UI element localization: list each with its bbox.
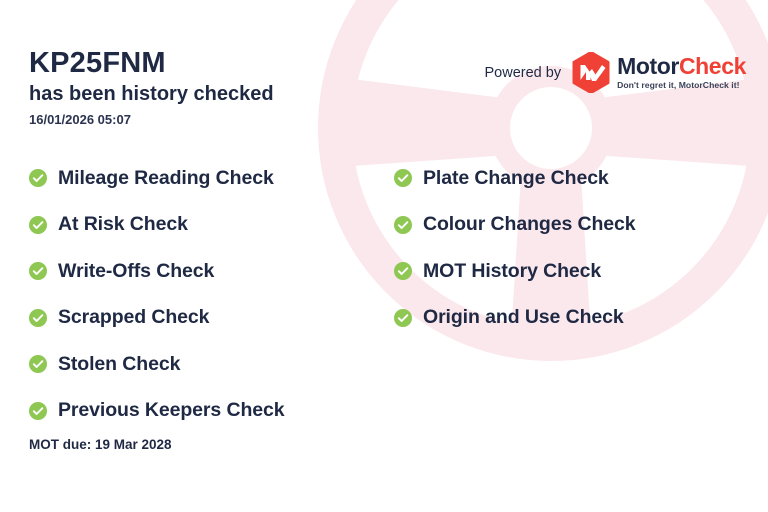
check-circle-icon xyxy=(29,402,47,420)
page-title-plate: KP25FNM xyxy=(29,48,274,79)
check-item-previous-keepers: Previous Keepers Check xyxy=(29,388,285,435)
header-left: KP25FNM has been history checked 16/01/2… xyxy=(29,48,274,127)
check-item-label: Previous Keepers Check xyxy=(58,399,285,422)
check-circle-icon xyxy=(29,355,47,373)
card-content: KP25FNM has been history checked 16/01/2… xyxy=(0,0,768,512)
report-timestamp: 16/01/2026 05:07 xyxy=(29,112,274,127)
check-item-label: Plate Change Check xyxy=(423,167,609,190)
check-item-mileage-reading: Mileage Reading Check xyxy=(29,155,285,202)
check-list-right: Plate Change Check Colour Changes Check … xyxy=(394,155,636,341)
check-item-write-offs: Write-Offs Check xyxy=(29,248,285,295)
check-item-label: Origin and Use Check xyxy=(423,306,624,329)
check-item-label: Mileage Reading Check xyxy=(58,167,274,190)
check-item-mot-history: MOT History Check xyxy=(394,248,636,295)
check-item-colour-changes: Colour Changes Check xyxy=(394,202,636,249)
check-item-label: At Risk Check xyxy=(58,213,188,236)
check-circle-icon xyxy=(394,262,412,280)
check-list-left: Mileage Reading Check At Risk Check Writ… xyxy=(29,155,285,434)
check-item-scrapped: Scrapped Check xyxy=(29,295,285,342)
brand-tagline: Don't regret it, MotorCheck it! xyxy=(617,81,746,90)
brand-lockup: Powered by MotorCheck Don't regret it, M… xyxy=(485,52,747,93)
check-item-label: Stolen Check xyxy=(58,353,180,376)
check-item-plate-change: Plate Change Check xyxy=(394,155,636,202)
check-circle-icon xyxy=(29,169,47,187)
vehicle-history-check-card: KP25FNM has been history checked 16/01/2… xyxy=(0,0,768,512)
check-circle-icon xyxy=(29,216,47,234)
motorcheck-wordmark: MotorCheck xyxy=(617,55,746,78)
check-item-label: Write-Offs Check xyxy=(58,260,214,283)
check-item-label: MOT History Check xyxy=(423,260,601,283)
check-circle-icon xyxy=(29,262,47,280)
check-item-label: Colour Changes Check xyxy=(423,213,636,236)
motorcheck-logo[interactable]: MotorCheck Don't regret it, MotorCheck i… xyxy=(572,52,746,93)
check-circle-icon xyxy=(394,216,412,234)
check-item-stolen: Stolen Check xyxy=(29,341,285,388)
check-item-at-risk: At Risk Check xyxy=(29,202,285,249)
check-item-label: Scrapped Check xyxy=(58,306,209,329)
powered-by-label: Powered by xyxy=(485,65,562,81)
mot-due-label: MOT due: 19 Mar 2028 xyxy=(29,437,172,452)
motorcheck-wordmark-block: MotorCheck Don't regret it, MotorCheck i… xyxy=(617,55,746,90)
page-subtitle: has been history checked xyxy=(29,82,274,107)
check-item-origin-and-use: Origin and Use Check xyxy=(394,295,636,342)
motorcheck-hexagon-logo-icon xyxy=(572,52,610,93)
check-circle-icon xyxy=(29,309,47,327)
check-circle-icon xyxy=(394,169,412,187)
check-circle-icon xyxy=(394,309,412,327)
wordmark-check: Check xyxy=(679,53,746,79)
wordmark-motor: Motor xyxy=(617,53,679,79)
